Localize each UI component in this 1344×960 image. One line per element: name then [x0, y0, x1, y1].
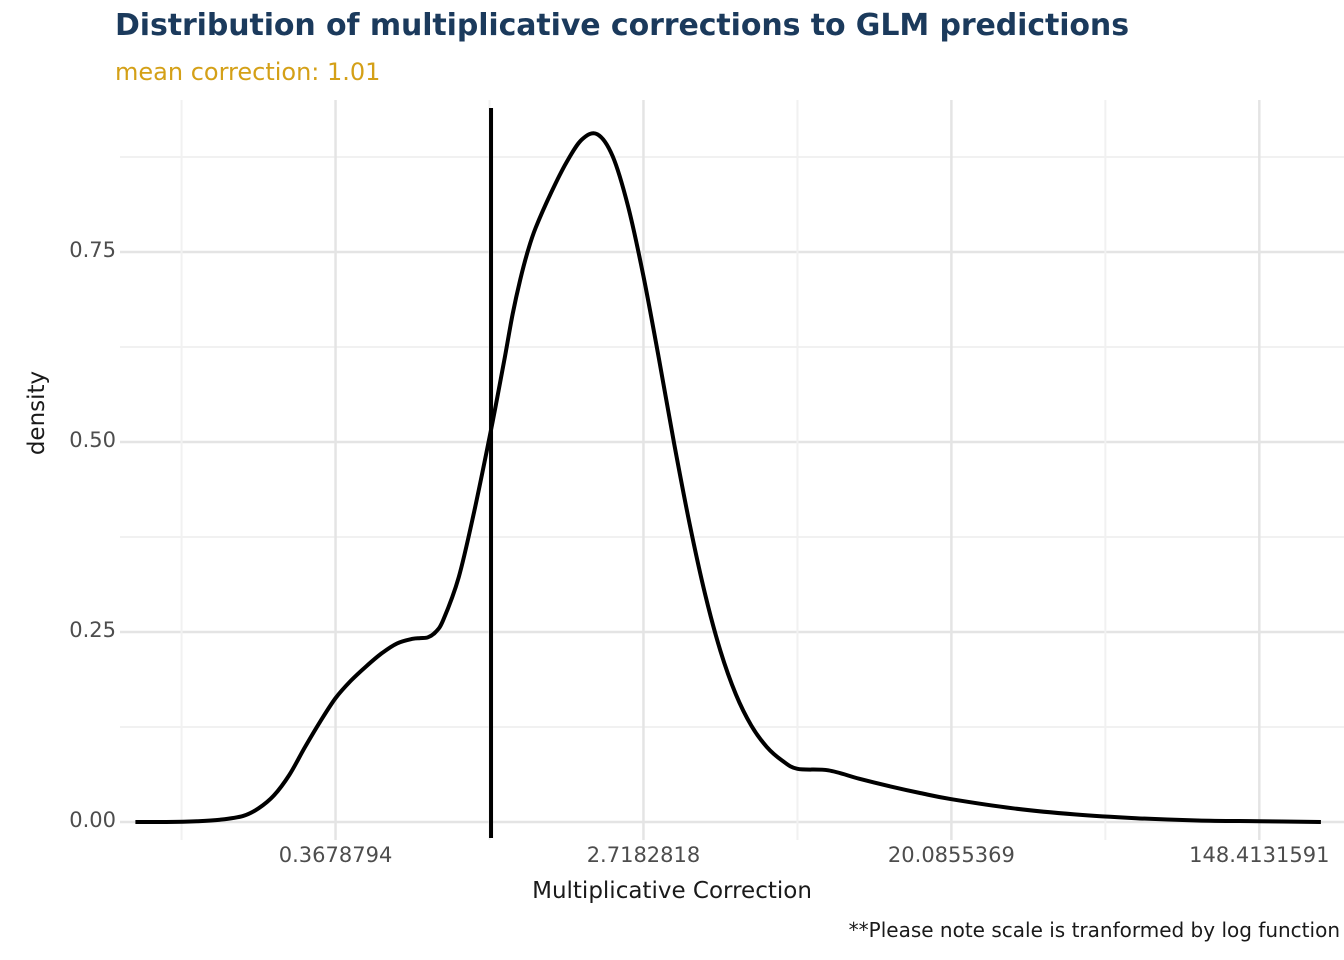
- chart-caption: **Please note scale is tranformed by log…: [849, 918, 1340, 942]
- plot-panel-background: [120, 100, 1344, 822]
- density-plot: [0, 0, 1344, 960]
- chart-container: Distribution of multiplicative correctio…: [0, 0, 1344, 960]
